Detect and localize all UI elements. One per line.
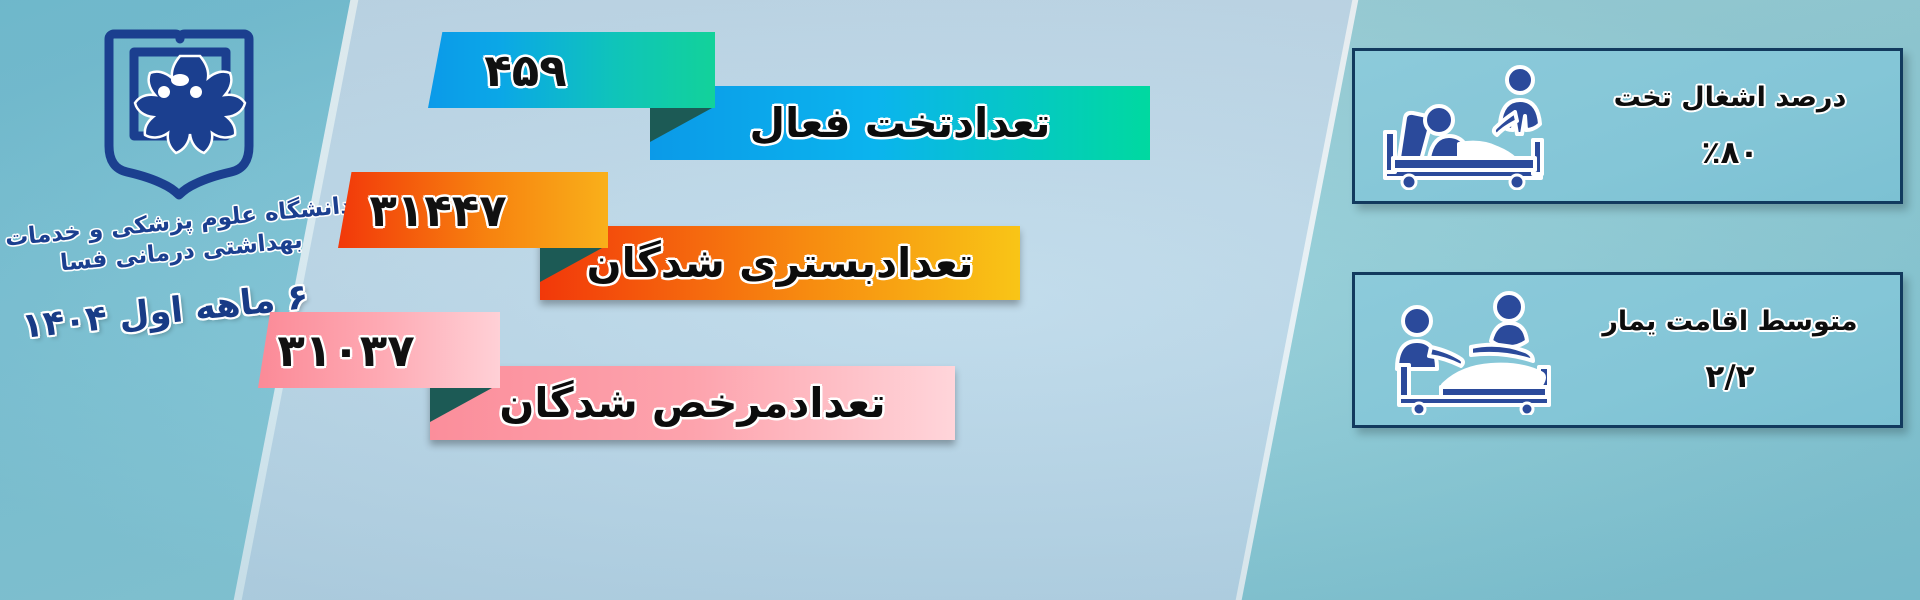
- kpi-card-body-1: درصد اشغال تخت ٪۸۰: [1570, 82, 1900, 171]
- ribbon-fold-3: [430, 388, 492, 422]
- kpi-cards-panel: درصد اشغال تخت ٪۸۰: [1330, 0, 1920, 600]
- ribbon-fold-1: [650, 108, 712, 142]
- kpi-value-1: ٪۸۰: [1702, 135, 1759, 171]
- kpi-icon-wrap-2: [1355, 285, 1570, 415]
- kpi-value-2: ۲/۲: [1705, 359, 1754, 395]
- kpi-card-body-2: متوسط اقامت یمار ۲/۲: [1570, 306, 1900, 395]
- kpi-icon-wrap-1: [1355, 62, 1570, 190]
- ribbon-value-plate-3: ۳۱۰۳۷: [258, 312, 500, 388]
- ribbon-value-1: ۴۵۹: [484, 44, 566, 97]
- ribbon-chart: تعدادتخت فعال ۴۵۹ تعدادبستری شدگان ۳۱۴۴۷…: [0, 0, 1300, 600]
- ribbon-label-1: تعدادتخت فعال: [750, 99, 1051, 147]
- kpi-card-average-stay[interactable]: متوسط اقامت یمار ۲/۲: [1352, 272, 1903, 428]
- ribbon-label-flag-3: تعدادمرخص شدگان: [430, 366, 955, 440]
- ribbon-value-2: ۳۱۴۴۷: [369, 184, 506, 237]
- patient-in-hospital-bed-icon: [1363, 62, 1563, 190]
- ribbon-label-3: تعدادمرخص شدگان: [499, 379, 885, 427]
- infographic-canvas: دانشگاه علوم پزشکی و خدمات بهداشتی درمان…: [0, 0, 1920, 600]
- ribbon-row-2: تعدادبستری شدگان ۳۱۴۴۷: [0, 160, 1300, 310]
- ribbon-label-flag-1: تعدادتخت فعال: [650, 86, 1150, 160]
- ribbon-value-3: ۳۱۰۳۷: [277, 324, 414, 377]
- ribbon-row-1: تعدادتخت فعال ۴۵۹: [0, 20, 1300, 170]
- ribbon-label-2: تعدادبستری شدگان: [587, 239, 974, 287]
- nurse-examining-patient-icon: [1363, 285, 1563, 415]
- ribbon-value-plate-1: ۴۵۹: [428, 32, 715, 108]
- kpi-title-1: درصد اشغال تخت: [1614, 82, 1847, 113]
- ribbon-label-flag-2: تعدادبستری شدگان: [540, 226, 1020, 300]
- kpi-card-bed-occupancy[interactable]: درصد اشغال تخت ٪۸۰: [1352, 48, 1903, 204]
- ribbon-row-3: تعدادمرخص شدگان ۳۱۰۳۷: [0, 300, 1300, 450]
- ribbon-fold-2: [540, 248, 602, 282]
- kpi-title-2: متوسط اقامت یمار: [1602, 306, 1857, 337]
- ribbon-value-plate-2: ۳۱۴۴۷: [338, 172, 608, 248]
